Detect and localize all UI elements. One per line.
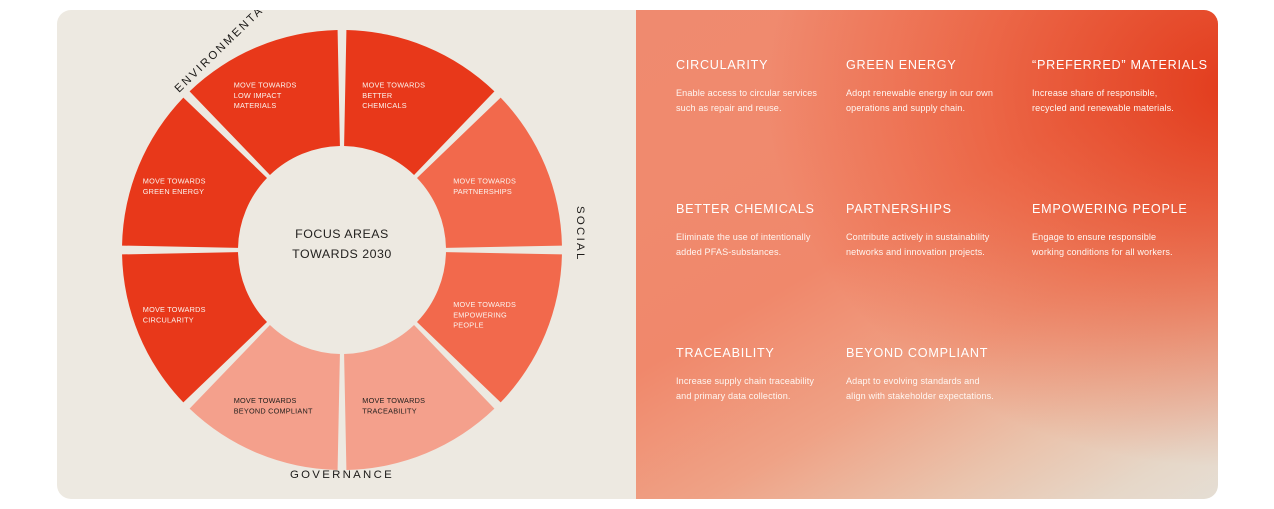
infographic-root: FOCUS AREAS TOWARDS 2030 MOVE TOWARDSBET… [0,0,1274,509]
focus-area-card-title: “PREFERRED” MATERIALS [1032,58,1218,72]
focus-area-card-title: BEYOND COMPLIANT [846,346,1018,360]
focus-area-card-body: Engage to ensure responsible working con… [1032,230,1180,259]
segment-label: MOVE TOWARDSTRACEABILITY [362,396,425,415]
focus-area-card-title: PARTNERSHIPS [846,202,1018,216]
focus-area-card: GREEN ENERGYAdopt renewable energy in ou… [846,58,1032,202]
wheel-panel: FOCUS AREAS TOWARDS 2030 MOVE TOWARDSBET… [57,10,637,499]
focus-area-card-body: Adapt to evolving standards and align wi… [846,374,994,403]
center-title-line2: TOWARDS 2030 [292,247,392,261]
focus-area-card-title: CIRCULARITY [676,58,832,72]
focus-area-card: TRACEABILITYIncrease supply chain tracea… [676,346,846,499]
focus-area-card: “PREFERRED” MATERIALSIncrease share of r… [1032,58,1218,202]
segment-label-line: PEOPLE [453,320,484,329]
segment-label-line: LOW IMPACT [234,91,282,100]
focus-area-card-body: Adopt renewable energy in our own operat… [846,86,994,115]
description-grid: CIRCULARITYEnable access to circular ser… [636,10,1218,499]
segment-label-line: MOVE TOWARDS [453,300,516,309]
focus-area-card-title: EMPOWERING PEOPLE [1032,202,1218,216]
segment-label-line: BETTER [362,91,392,100]
wheel-container: FOCUS AREAS TOWARDS 2030 MOVE TOWARDSBET… [57,10,637,499]
focus-areas-donut-chart: FOCUS AREAS TOWARDS 2030 MOVE TOWARDSBET… [57,10,637,499]
focus-area-card-body: Enable access to circular services such … [676,86,824,115]
segment-label-line: MATERIALS [234,101,277,110]
segment-label: MOVE TOWARDSPARTNERSHIPS [453,177,516,196]
axis-label-governance: GOVERNANCE [290,469,394,481]
segment-label-line: CHEMICALS [362,101,407,110]
focus-area-card: EMPOWERING PEOPLEEngage to ensure respon… [1032,202,1218,346]
focus-area-card: BETTER CHEMICALSEliminate the use of int… [676,202,846,346]
segment-label-line: MOVE TOWARDS [362,81,425,90]
segment-label-line: MOVE TOWARDS [453,177,516,186]
focus-area-card-title: GREEN ENERGY [846,58,1018,72]
segment-label-line: MOVE TOWARDS [234,396,297,405]
focus-area-card: CIRCULARITYEnable access to circular ser… [676,58,846,202]
segment-label-line: MOVE TOWARDS [362,396,425,405]
segment-label-line: EMPOWERING [453,310,507,319]
center-title-line1: FOCUS AREAS [295,227,389,241]
segment-label-line: CIRCULARITY [143,315,194,324]
segment-label-line: MOVE TOWARDS [143,177,206,186]
segment-label: MOVE TOWARDSGREEN ENERGY [143,177,206,196]
focus-area-card-body: Eliminate the use of intentionally added… [676,230,824,259]
focus-area-card-body: Increase supply chain traceability and p… [676,374,824,403]
segment-label-line: MOVE TOWARDS [234,81,297,90]
segment-label-line: GREEN ENERGY [143,187,204,196]
focus-area-card: PARTNERSHIPSContribute actively in susta… [846,202,1032,346]
segment-label-line: BEYOND COMPLIANT [234,406,313,415]
focus-area-card-body: Increase share of responsible, recycled … [1032,86,1180,115]
focus-area-card: BEYOND COMPLIANTAdapt to evolving standa… [846,346,1032,499]
segment-label-line: PARTNERSHIPS [453,187,512,196]
focus-area-card-body: Contribute actively in sustainability ne… [846,230,994,259]
segment-label-line: TRACEABILITY [362,406,417,415]
description-panel: CIRCULARITYEnable access to circular ser… [636,10,1218,499]
focus-area-card-title: BETTER CHEMICALS [676,202,832,216]
focus-area-card-title: TRACEABILITY [676,346,832,360]
axis-label-social: SOCIAL [574,206,586,262]
segment-label-line: MOVE TOWARDS [143,305,206,314]
